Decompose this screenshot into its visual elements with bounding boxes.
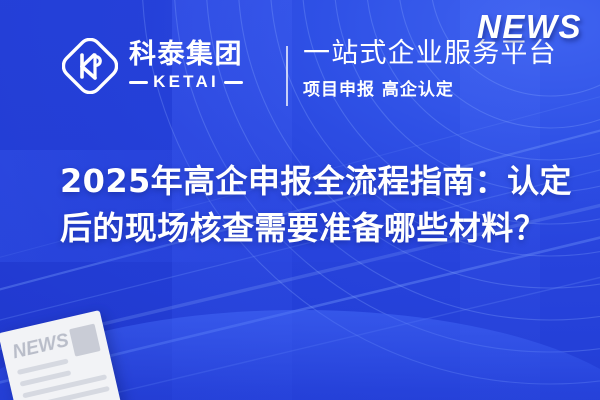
brand-name-en-row: KETAI [129, 72, 243, 92]
brand-logo: 科泰集团 KETAI [62, 38, 243, 94]
ketai-diamond-k-logo-icon [62, 38, 118, 94]
article-title-line-1: 2025年高企申报全流程指南：认定 [60, 158, 580, 205]
logo-rule-left [129, 81, 148, 84]
brand-name-en: KETAI [153, 72, 219, 92]
header-divider [286, 46, 288, 106]
tagline-secondary: 项目申报 高企认定 [303, 75, 557, 100]
brand-tagline: 一站式企业服务平台 项目申报 高企认定 [303, 38, 557, 100]
brand-logo-text: 科泰集团 KETAI [129, 40, 243, 92]
article-title: 2025年高企申报全流程指南：认定 后的现场核查需要准备哪些材料？ [60, 158, 580, 252]
news-label: NEWS [477, 8, 582, 46]
article-title-line-2: 后的现场核查需要准备哪些材料？ [60, 205, 580, 252]
logo-rule-right [224, 81, 243, 84]
news-banner: 科泰集团 KETAI 一站式企业服务平台 项目申报 高企认定 NEWS 2025… [0, 0, 600, 400]
banner-header: 科泰集团 KETAI 一站式企业服务平台 项目申报 高企认定 NEWS [0, 0, 600, 150]
brand-name-cn: 科泰集团 [129, 40, 243, 69]
